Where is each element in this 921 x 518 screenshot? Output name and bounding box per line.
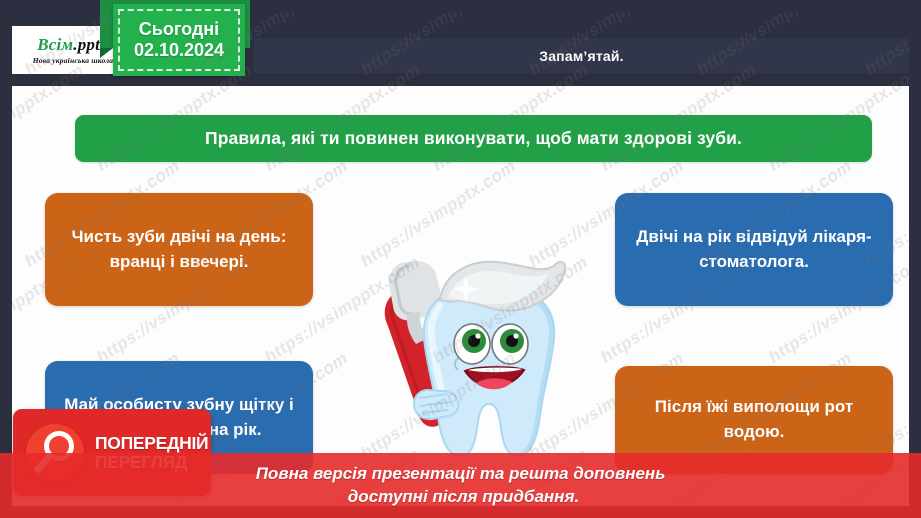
rule-card-text: Двічі на рік відвідуй лікаря-стоматолога…	[631, 225, 877, 274]
date-badge: Сьогодні 02.10.2024	[113, 4, 245, 76]
header-title-bar: Запам’ятай.	[254, 38, 909, 73]
headline-banner: Правила, які ти повинен виконувати, щоб …	[75, 115, 872, 162]
rule-card-text: Після їжі виполощи рот водою.	[631, 395, 877, 444]
watermark-text: https://vsimpptx.com	[12, 156, 16, 271]
purchase-notice-banner: Повна версія презентації та решта доповн…	[0, 453, 921, 518]
logo-wordmark: Всім.pptx	[37, 36, 109, 53]
purchase-notice-line2: доступні після придбання.	[342, 486, 579, 509]
preview-badge-line1: ПОПЕРЕДНІЙ	[95, 434, 208, 452]
headline-text: Правила, які ти повинен виконувати, щоб …	[205, 128, 742, 149]
rule-card-top-right: Двічі на рік відвідуй лікаря-стоматолога…	[615, 193, 893, 306]
date-badge-label: Сьогодні	[139, 19, 219, 40]
presentation-slide: Правила, які ти повинен виконувати, щоб …	[0, 0, 921, 518]
purchase-notice-line1: Повна версія презентації та решта доповн…	[256, 463, 666, 486]
tooth-hand	[414, 390, 459, 419]
date-badge-date: 02.10.2024	[134, 40, 224, 61]
tooth-mascot-illustration	[344, 240, 594, 480]
rule-card-text: Чисть зуби двічі на день: вранці і ввече…	[61, 225, 297, 274]
header-title-text: Запам’ятай.	[539, 48, 624, 64]
rule-card-top-left: Чисть зуби двічі на день: вранці і ввече…	[45, 193, 313, 306]
logo-brand-first: Всім	[37, 35, 73, 54]
